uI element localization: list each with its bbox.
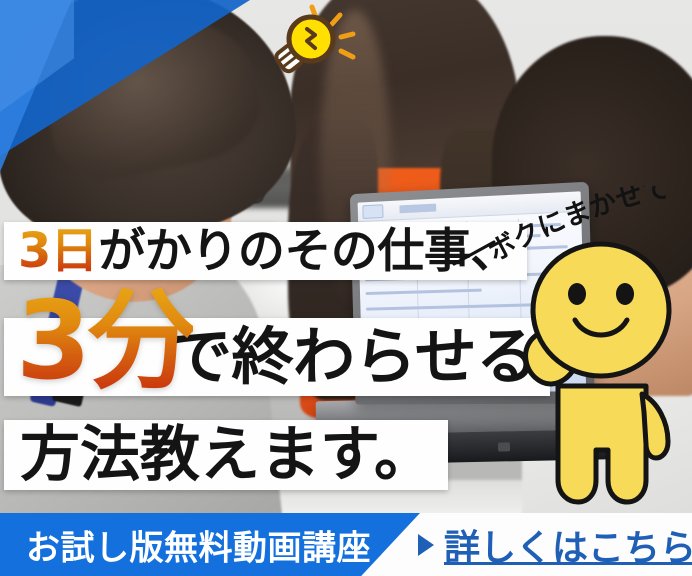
ad-banner: 3日 がかりのその仕事、 で終わらせる 3分 方法教えます。 ボクにまかせて — [0, 0, 692, 576]
screen-row — [366, 289, 482, 295]
headline-2-highlight: 3分 — [16, 288, 193, 396]
headline-2-rest: で終わらせる — [170, 326, 538, 388]
screen-tab — [362, 204, 383, 219]
headline-3-text: 方法教えます。 — [20, 425, 434, 485]
play-triangle-icon — [418, 534, 434, 556]
headline-1-highlight: 3日 — [18, 227, 97, 275]
headline-line-3: 方法教えます。 — [4, 420, 448, 490]
cta-badge-label: お試し版無料動画講座 — [26, 520, 371, 569]
mascot-eye-right — [616, 283, 634, 305]
lightbulb-icon — [262, 4, 366, 78]
cta-link-label: 詳しくはこちら — [444, 519, 692, 571]
cta-bar[interactable]: お試し版無料動画講座 詳しくはこちら — [0, 513, 692, 576]
cta-details-link[interactable]: 詳しくはこちら — [418, 519, 692, 571]
yellow-smiley-mascot — [496, 236, 692, 536]
mascot-eye-left — [568, 283, 586, 305]
headline-line-1: 3日 がかりのその仕事、 — [4, 222, 527, 280]
